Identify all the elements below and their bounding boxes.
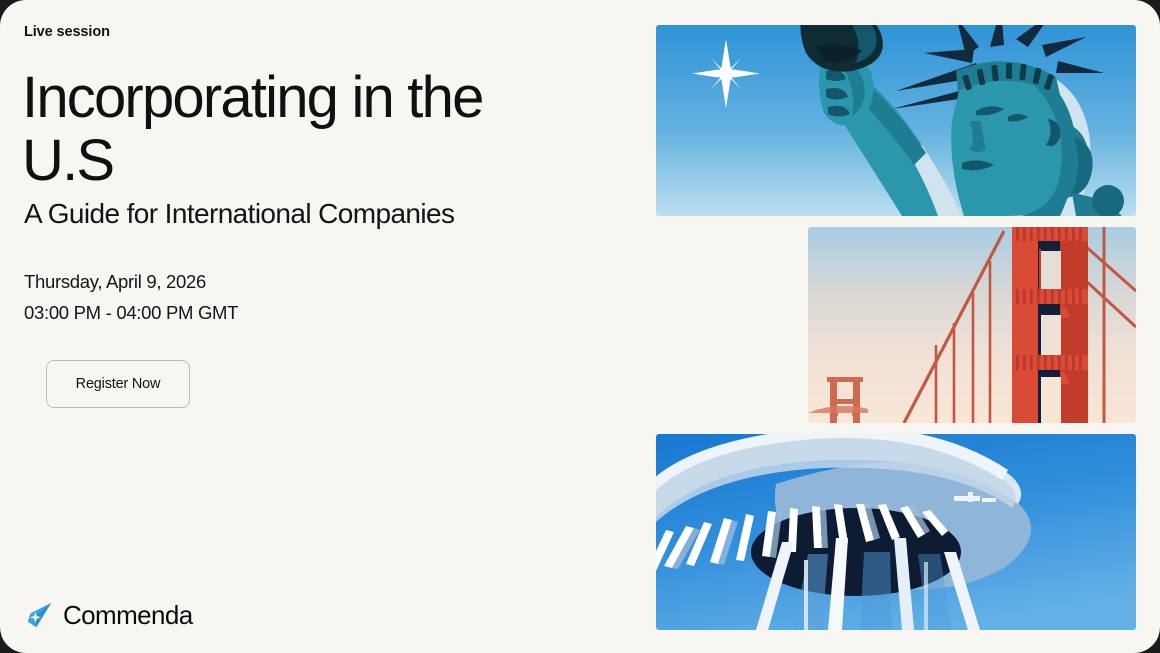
golden-gate-bridge-illustration: [808, 227, 1136, 423]
register-now-button[interactable]: Register Now: [46, 360, 190, 408]
page-title: Incorporating in the U.S: [22, 66, 582, 192]
brand-name: Commenda: [63, 600, 193, 631]
session-time: 03:00 PM - 04:00 PM GMT: [24, 297, 238, 328]
session-promo-card: Live session Incorporating in the U.S A …: [0, 0, 1160, 653]
space-needle-illustration: [656, 434, 1136, 630]
session-schedule: Thursday, April 9, 2026 03:00 PM - 04:00…: [24, 266, 238, 328]
media-stack: [656, 0, 1160, 653]
content-pane: Live session Incorporating in the U.S A …: [24, 0, 624, 653]
statue-of-liberty-illustration: [656, 25, 1136, 216]
paper-plane-sparkle-icon: [24, 601, 54, 631]
live-session-label: Live session: [24, 24, 110, 40]
session-date: Thursday, April 9, 2026: [24, 266, 238, 297]
main-tower: [1012, 227, 1088, 423]
brand-lockup: Commenda: [24, 600, 193, 631]
page-subtitle: A Guide for International Companies: [24, 196, 454, 232]
